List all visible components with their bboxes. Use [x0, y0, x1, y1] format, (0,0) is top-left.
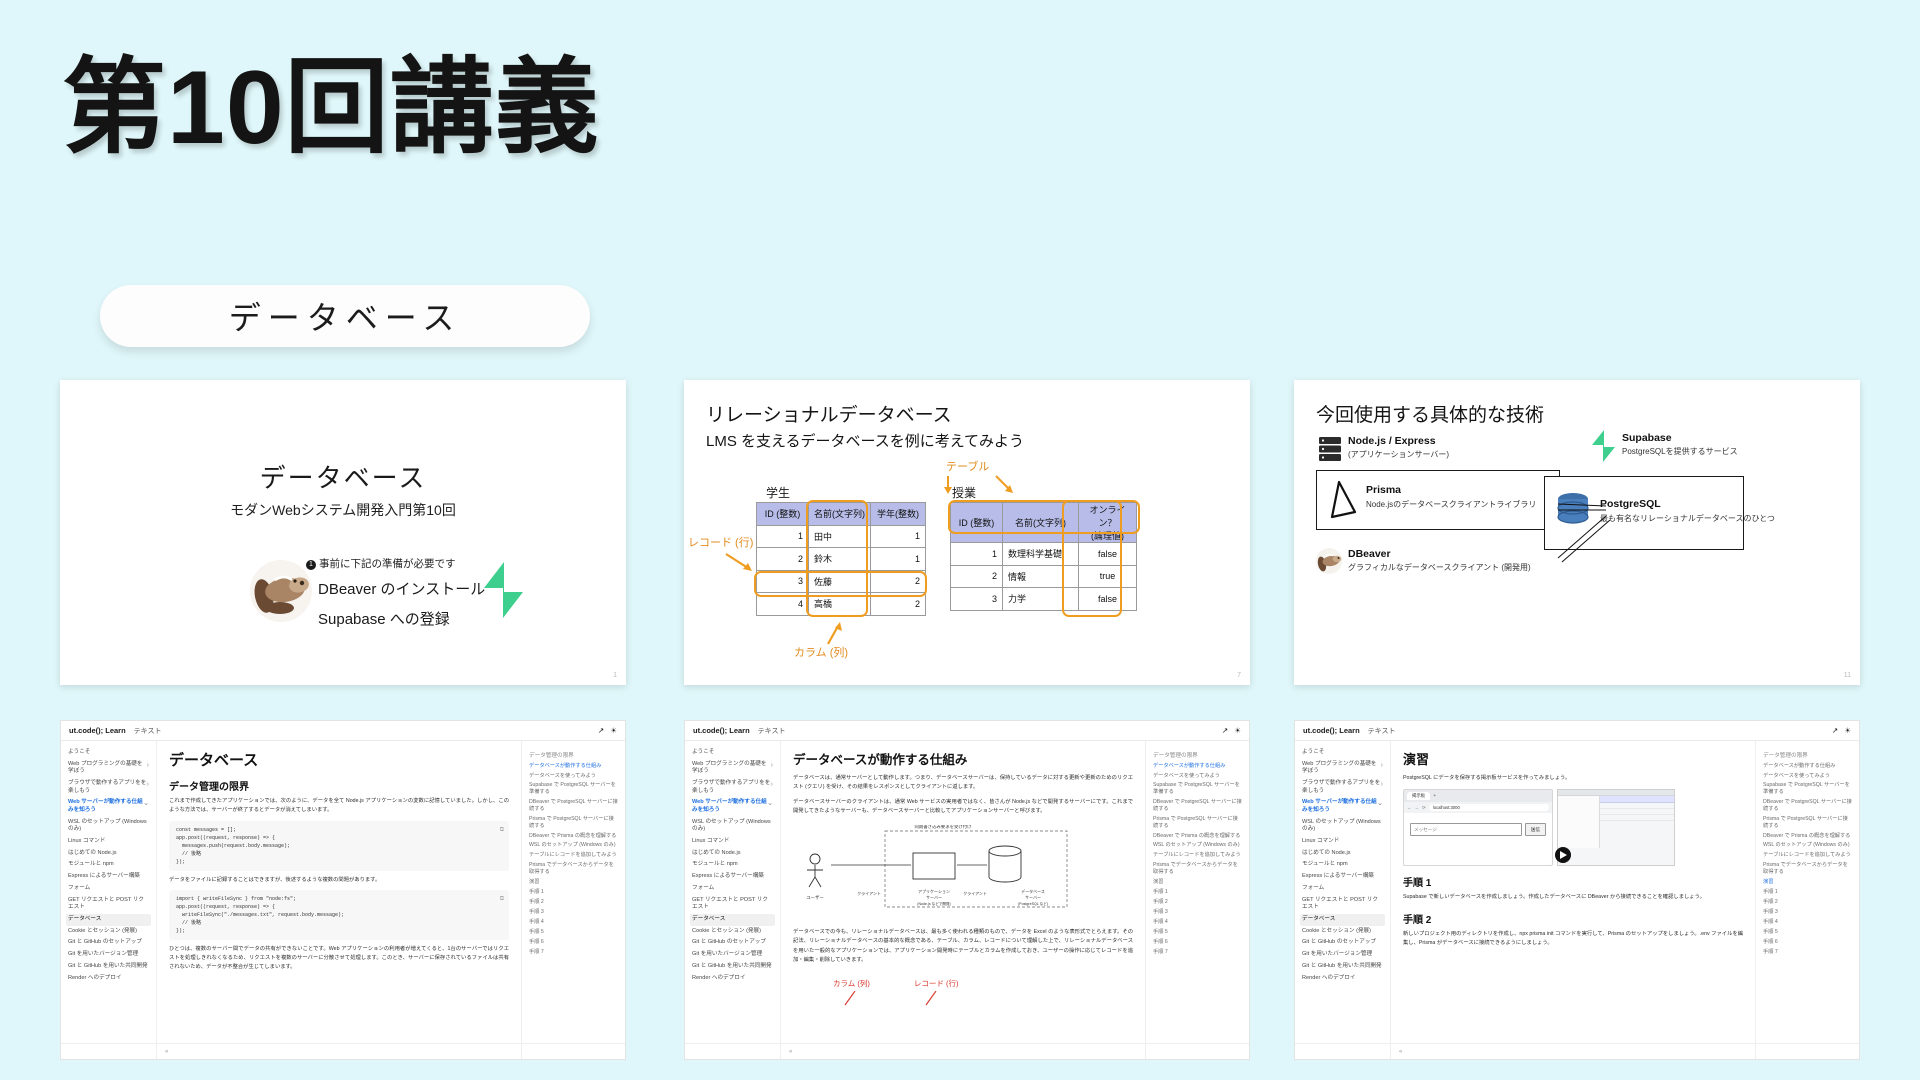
toc-item[interactable]: データベースを使ってみよう	[527, 771, 620, 781]
toc-item[interactable]: 手順 4	[1761, 917, 1854, 927]
toc-item[interactable]: 手順 5	[1761, 927, 1854, 937]
doc-paragraph: データベースでの今も、リレーショナルデータベースは、最も多く使われる種類のもので…	[793, 928, 1133, 965]
toc-item[interactable]: 演習	[527, 877, 620, 887]
toc-item[interactable]: 演習	[1761, 877, 1854, 887]
doc-sidebar[interactable]: ようこそ Web プログラミングの基礎を学ぼう› ブラウザで動作するアプリをを楽…	[1295, 741, 1391, 1060]
collapse-icon[interactable]: «	[1399, 1049, 1402, 1055]
chevron-right-icon: ›	[771, 761, 773, 776]
grid-header	[1600, 796, 1674, 803]
doc-sidebar[interactable]: ようこそ Web プログラミングの基礎を学ぼう› ブラウザで動作するアプリをを楽…	[685, 741, 781, 1060]
toc-item[interactable]: DBeaver で PostgreSQL サーバーに接続する	[1151, 798, 1244, 815]
toc-item[interactable]: 手順 5	[1151, 927, 1244, 937]
slide2-title: リレーショナルデータベース	[706, 400, 952, 427]
sidebar-item[interactable]: ブラウザで動作するアプリをを楽しもう›	[1300, 778, 1385, 797]
step-label: 手順 2	[1403, 911, 1743, 926]
doc-paragraph: PostgreSQL にデータを保存する掲示板サービスを作ってみましょう。	[1403, 774, 1743, 783]
sidebar-item[interactable]: フォーム	[66, 883, 151, 895]
sidebar-item[interactable]: WSL のセットアップ (Windows のみ)	[690, 817, 775, 836]
doc-paragraph: データをファイルに記録することはできますが、後述するような複数の問題があります。	[169, 876, 509, 885]
beaver-icon	[1316, 548, 1342, 574]
code-block: ⧉ const messages = []; app.post((request…	[169, 821, 509, 871]
site-logo[interactable]: ut.code(); Learn	[69, 726, 126, 735]
toc-item[interactable]: テーブルにレコードを追加してみよう	[1761, 851, 1854, 861]
toc-item[interactable]: DBeaver で PostgreSQL サーバーに接続する	[1761, 798, 1854, 815]
sidebar-item[interactable]: Git を用いたバージョン管理	[66, 949, 151, 961]
sidebar-item[interactable]: Web プログラミングの基礎を学ぼう›	[66, 759, 151, 778]
toc-item[interactable]: Prisma でデータベースからデータを取得する	[1761, 861, 1854, 878]
sidebar-item[interactable]: Cookie とセッション (発展)	[690, 926, 775, 938]
slide2-page-number: 7	[1237, 672, 1241, 679]
sidebar-item-active[interactable]: Web サーバーが動作する仕組みを知ろう⌄	[1300, 797, 1385, 816]
slide1-item-1: Supabase への登録	[318, 608, 450, 629]
nav-text-link[interactable]: テキスト	[758, 726, 786, 736]
sidebar-item[interactable]: Linux コマンド	[66, 836, 151, 848]
dbeaver-grid	[1600, 796, 1674, 848]
github-icon[interactable]: ↗	[1222, 726, 1228, 735]
cell: 1	[951, 543, 1003, 566]
toc-heading: データ管理の限界	[527, 747, 620, 761]
sidebar-item-selected[interactable]: データベース	[690, 914, 775, 926]
annotation-arrow	[841, 991, 867, 1007]
column-highlight	[806, 500, 868, 617]
sidebar-item[interactable]: モジュールと npm	[690, 859, 775, 871]
svg-text:データベース: データベース	[1021, 888, 1045, 894]
toc-item[interactable]: DBeaver で Prisma の概念を理解する	[1151, 831, 1244, 841]
toc-item[interactable]: 手順 3	[527, 907, 620, 917]
sidebar-item[interactable]: ようこそ	[66, 747, 151, 759]
annotation-column: カラム (列)	[794, 644, 848, 660]
cell: 1	[757, 525, 809, 548]
doc-body: ようこそ Web プログラミングの基礎を学ぼう› ブラウザで動作するアプリをを楽…	[61, 741, 625, 1060]
sidebar-item[interactable]: ブラウザで動作するアプリをを楽しもう›	[66, 778, 151, 797]
sidebar-item[interactable]: Git と GitHub を用いた共同開発	[1300, 961, 1385, 973]
browser-tab[interactable]: 掲示板	[1407, 792, 1430, 800]
svg-text:サーバー: サーバー	[1025, 895, 1041, 900]
svg-text:クライアント: クライアント	[857, 890, 881, 896]
doc-right-toc[interactable]: データ管理の限界 データベースが動作する仕組み データベースを使ってみよう Su…	[1145, 741, 1249, 1060]
sidebar-item[interactable]: Git と GitHub を用いた共同開発	[66, 961, 151, 973]
doc-topbar: ut.code(); Learn テキスト ↗ ☀	[61, 721, 625, 741]
column-annotation-arrow	[810, 620, 844, 646]
theme-toggle-icon[interactable]: ☀	[610, 726, 617, 735]
sidebar-item[interactable]: GET リクエストと POST リクエスト	[1300, 895, 1385, 914]
sidebar-item[interactable]: フォーム	[1300, 883, 1385, 895]
sidebar-item[interactable]: Git を用いたバージョン管理	[690, 949, 775, 961]
toc-item[interactable]: 手順 6	[1761, 937, 1854, 947]
grid-row	[1600, 815, 1674, 821]
toc-heading: データ管理の限界	[1761, 747, 1854, 761]
browser-urlbar[interactable]: ← → ⟳ localhost:3000	[1404, 802, 1552, 813]
sidebar-item-active[interactable]: Web サーバーが動作する仕組みを知ろう⌄	[66, 797, 151, 816]
sidebar-item[interactable]: GET リクエストと POST リクエスト	[690, 895, 775, 914]
doc-heading-2: データ管理の限界	[169, 778, 509, 793]
copy-icon[interactable]: ⧉	[500, 894, 504, 904]
forward-icon[interactable]: →	[1415, 805, 1420, 810]
cell: 1	[871, 525, 926, 548]
cell: 1	[871, 548, 926, 571]
slide1-subtitle: モダンWebシステム開発入門第10回	[60, 500, 626, 520]
cell: 3	[951, 588, 1003, 611]
message-input[interactable]: メッセージ	[1410, 823, 1522, 836]
toc-item[interactable]: 手順 1	[1761, 887, 1854, 897]
sidebar-item[interactable]: Render へのデプロイ	[1300, 972, 1385, 984]
chevron-down-icon: ⌄	[767, 799, 773, 814]
presentation-overview-page: 第10回講義 データベース データベース モダンWebシステム開発入門第10回 …	[0, 0, 1920, 1080]
toc-item[interactable]: 手順 2	[1151, 897, 1244, 907]
sidebar-item[interactable]: Linux コマンド	[1300, 836, 1385, 848]
sidebar-item[interactable]: WSL のセットアップ (Windows のみ)	[1300, 817, 1385, 836]
step-label: 手順 1	[1403, 874, 1743, 889]
chevron-right-icon: ›	[1381, 761, 1383, 776]
sidebar-item[interactable]: Git と GitHub のセットアップ	[1300, 937, 1385, 949]
sidebar-item[interactable]: GET リクエストと POST リクエスト	[66, 895, 151, 914]
slide-card-2[interactable]: リレーショナルデータベース LMS を支えるデータベースを例に考えてみよう テー…	[684, 380, 1250, 685]
doc-paragraph: これまで作成してきたアプリケーションでは、次のように、データを全て Node.j…	[169, 797, 509, 816]
code-text: const messages = []; app.post((request, …	[176, 827, 290, 865]
url-text[interactable]: localhost:3000	[1429, 804, 1549, 811]
toc-item[interactable]: 手順 1	[527, 887, 620, 897]
sidebar-item[interactable]: ようこそ	[1300, 747, 1385, 759]
slide3-title: 今回使用する具体的な技術	[1316, 400, 1544, 427]
sidebar-item-selected[interactable]: データベース	[1300, 914, 1385, 926]
doc-paragraph: データベースは、通常サーバーとして動作します。つまり、データベースサーバーは、保…	[793, 774, 1133, 793]
toc-item[interactable]: Supabase で PostgreSQL サーバーを準備する	[527, 781, 620, 798]
toc-item[interactable]: Prisma で PostgreSQL サーバーに接続する	[527, 814, 620, 831]
toc-item[interactable]: WSL のセットアップ (Windows のみ)	[1761, 841, 1854, 851]
page-title: 第10回講義	[62, 50, 600, 166]
browser-mock: 掲示板 + ← → ⟳ localhost:3000 メッセージ	[1403, 789, 1553, 866]
toc-item[interactable]: Prisma でデータベースからデータを取得する	[527, 861, 620, 878]
sidebar-item[interactable]: Cookie とセッション (発展)	[66, 926, 151, 938]
sidebar-item[interactable]: Git と GitHub のセットアップ	[690, 937, 775, 949]
toc-item[interactable]: DBeaver で Prisma の概念を理解する	[1761, 831, 1854, 841]
architecture-diagram: 同期書き込み要求を受け付け ユーザー クライアント アプリケーション サーバー …	[793, 825, 1083, 917]
toc-item[interactable]: WSL のセットアップ (Windows のみ)	[1151, 841, 1244, 851]
prisma-desc: Node.jsのデータベースクライアントライブラリ	[1366, 499, 1536, 510]
slide-card-1[interactable]: データベース モダンWebシステム開発入門第10回 1事前に下記の準備が必要です…	[60, 380, 626, 685]
chevron-right-icon: ›	[147, 780, 149, 795]
toc-item[interactable]: テーブルにレコードを追加してみよう	[527, 851, 620, 861]
toc-item[interactable]: Prisma で PostgreSQL サーバーに接続する	[1761, 814, 1854, 831]
doc-heading-1: データベースが動作する仕組み	[793, 749, 1133, 768]
reload-icon[interactable]: ⟳	[1422, 805, 1426, 811]
nav-text-link[interactable]: テキスト	[134, 726, 162, 736]
chevron-down-icon: ⌄	[1377, 799, 1383, 814]
doc-footer: «	[1295, 1043, 1859, 1059]
toc-item[interactable]: データベースが動作する仕組み	[1761, 761, 1854, 771]
student-col-id: ID (整数)	[757, 503, 809, 526]
svg-text:同期書き込み要求を受け付け: 同期書き込み要求を受け付け	[914, 825, 972, 830]
record-annotation-arrow	[724, 552, 758, 576]
sidebar-item[interactable]: モジュールと npm	[1300, 859, 1385, 871]
class-table-caption: 授業	[952, 484, 976, 501]
slide1-item-0: DBeaver のインストール	[318, 578, 485, 599]
doc-footer: «	[61, 1043, 625, 1059]
site-logo[interactable]: ut.code(); Learn	[1303, 726, 1360, 735]
browser-tabbar: 掲示板 +	[1404, 790, 1552, 802]
connector-lines	[1556, 480, 1612, 572]
sidebar-item[interactable]: はじめての Node.js	[690, 848, 775, 860]
sidebar-item[interactable]: Cookie とセッション (発展)	[1300, 926, 1385, 938]
sidebar-item[interactable]: Git と GitHub のセットアップ	[66, 937, 151, 949]
toc-item[interactable]: Supabase で PostgreSQL サーバーを準備する	[1151, 781, 1244, 798]
dbeaver-mock	[1557, 789, 1675, 866]
student-col-year: 学年(整数)	[871, 503, 926, 526]
sidebar-item[interactable]: ようこそ	[690, 747, 775, 759]
step-text: 新しいプロジェクト用のディレクトリを作成し、npx prisma init コマ…	[1403, 930, 1743, 949]
sidebar-item[interactable]: WSL のセットアップ (Windows のみ)	[66, 817, 151, 836]
node-desc: (アプリケーションサーバー)	[1348, 449, 1449, 460]
doc-paragraph: データベースサーバーのクライアントは、通常 Web サービスの実用者ではなく、皆…	[793, 798, 1133, 817]
slide-card-3[interactable]: 今回使用する具体的な技術 Node.js / Express (アプリケーション…	[1294, 380, 1860, 685]
postgres-desc: 最も有名なリレーショナルデータベースのひとつ	[1600, 513, 1775, 524]
toc-item[interactable]: 手順 3	[1151, 907, 1244, 917]
topbar-actions: ↗ ☀	[1832, 726, 1851, 735]
sidebar-item[interactable]: Git を用いたバージョン管理	[1300, 949, 1385, 961]
toc-item[interactable]: 手順 7	[527, 947, 620, 957]
code-text: import { writeFileSync } from "node:fs";…	[176, 896, 344, 934]
svg-text:アプリケーション: アプリケーション	[918, 888, 950, 894]
toc-item[interactable]: 手順 1	[1151, 887, 1244, 897]
theme-toggle-icon[interactable]: ☀	[1234, 726, 1241, 735]
collapse-icon[interactable]: «	[165, 1049, 168, 1055]
toc-item[interactable]: データベースが動作する仕組み	[1151, 761, 1244, 771]
step-text: Supabase で新しいデータベースを作成しましょう。作成したデータベースに …	[1403, 893, 1743, 902]
toc-item[interactable]: テーブルにレコードを追加してみよう	[1151, 851, 1244, 861]
toc-item[interactable]: 演習	[1151, 877, 1244, 887]
toc-item[interactable]: Prisma で PostgreSQL サーバーに接続する	[1151, 814, 1244, 831]
toc-item[interactable]: Supabase で PostgreSQL サーバーを準備する	[1761, 781, 1854, 798]
sidebar-item-selected[interactable]: データベース	[66, 914, 151, 926]
supabase-label: Supabase	[1622, 432, 1672, 444]
toc-item[interactable]: データベースを使ってみよう	[1761, 771, 1854, 781]
svg-text:(PostgreSQL など): (PostgreSQL など)	[1018, 901, 1048, 906]
sidebar-item[interactable]: Render へのデプロイ	[66, 972, 151, 984]
toc-item[interactable]: 手順 2	[1761, 897, 1854, 907]
cell: 2	[951, 565, 1003, 588]
back-icon[interactable]: ←	[1407, 805, 1412, 810]
toc-item[interactable]: 手順 7	[1761, 947, 1854, 957]
doc-topbar: ut.code(); Learn テキスト ↗ ☀	[685, 721, 1249, 741]
sidebar-item[interactable]: Express によるサーバー構築	[1300, 871, 1385, 883]
doc-content: データベース データ管理の限界 これまで作成してきたアプリケーションでは、次のよ…	[157, 741, 521, 1060]
toc-item[interactable]: 手順 2	[527, 897, 620, 907]
slide1-page-number: 1	[613, 672, 617, 679]
sidebar-item[interactable]: Express によるサーバー構築	[66, 871, 151, 883]
doc-footer: «	[685, 1043, 1249, 1059]
toc-item[interactable]: 手順 4	[1151, 917, 1244, 927]
doc-heading-1: 演習	[1403, 749, 1743, 768]
student-table-caption: 学生	[766, 484, 790, 501]
topic-pill-label: データベース	[229, 293, 461, 339]
doc2-annotation-column: カラム (列)	[833, 973, 870, 1007]
note-number-badge: 1	[306, 560, 316, 570]
sidebar-item[interactable]: Git と GitHub を用いた共同開発	[690, 961, 775, 973]
annotation-table: テーブル	[946, 458, 989, 474]
sidebar-item[interactable]: フォーム	[690, 883, 775, 895]
slide3-page-number: 11	[1844, 672, 1851, 679]
github-icon[interactable]: ↗	[598, 726, 604, 735]
doc-content: データベースが動作する仕組み データベースは、通常サーバーとして動作します。つま…	[781, 741, 1145, 1060]
toc-heading: データ管理の限界	[1151, 747, 1244, 761]
svg-text:(Node.js などで開発): (Node.js などで開発)	[917, 901, 950, 906]
sidebar-item-active[interactable]: Web サーバーが動作する仕組みを知ろう⌄	[690, 797, 775, 816]
sidebar-item[interactable]: Express によるサーバー構築	[690, 871, 775, 883]
submit-button[interactable]: 送信	[1525, 823, 1546, 836]
sidebar-item[interactable]: ブラウザで動作するアプリをを楽しもう›	[690, 778, 775, 797]
site-logo[interactable]: ut.code(); Learn	[693, 726, 750, 735]
chevron-right-icon: ›	[147, 761, 149, 776]
nav-text-link[interactable]: テキスト	[1368, 726, 1396, 736]
new-tab-icon[interactable]: +	[1433, 793, 1436, 799]
slide1-note-text: 事前に下記の準備が必要です	[319, 558, 456, 570]
doc2-annotation-record: レコード (行)	[914, 973, 959, 1007]
doc-sidebar[interactable]: ようこそ Web プログラミングの基礎を学ぼう› ブラウザで動作するアプリをを楽…	[61, 741, 157, 1060]
toc-item[interactable]: DBeaver で Prisma の概念を理解する	[527, 831, 620, 841]
sidebar-item[interactable]: Render へのデプロイ	[690, 972, 775, 984]
browser-viewport: メッセージ 送信	[1404, 813, 1552, 865]
toc-item[interactable]: WSL のセットアップ (Windows のみ)	[527, 841, 620, 851]
doc-right-toc[interactable]: データ管理の限界 データベースが動作する仕組み データベースを使ってみよう Su…	[1755, 741, 1859, 1060]
toc-item[interactable]: DBeaver で PostgreSQL サーバーに接続する	[527, 798, 620, 815]
toc-item[interactable]: 手順 5	[527, 927, 620, 937]
beaver-icon	[250, 560, 312, 622]
dbeaver-tree[interactable]	[1558, 796, 1600, 848]
slide1-note: 1事前に下記の準備が必要です	[306, 556, 456, 571]
annotation-record: レコード (行)	[688, 534, 753, 550]
topbar-actions: ↗ ☀	[598, 726, 617, 735]
chevron-right-icon: ›	[771, 780, 773, 795]
toc-item[interactable]: 手順 3	[1761, 907, 1854, 917]
github-icon[interactable]: ↗	[1832, 726, 1838, 735]
svg-text:クライアント: クライアント	[963, 890, 987, 896]
chevron-down-icon: ⌄	[143, 799, 149, 814]
doc-screenshot-3[interactable]: ut.code(); Learn テキスト ↗ ☀ ようこそ Web プログラミ…	[1294, 720, 1860, 1060]
svg-text:サーバー: サーバー	[926, 895, 942, 900]
sidebar-item[interactable]: はじめての Node.js	[1300, 848, 1385, 860]
doc-screenshot-1[interactable]: ut.code(); Learn テキスト ↗ ☀ ようこそ Web プログラミ…	[60, 720, 626, 1060]
doc-paragraph: ひとつは、複数のサーバー間でデータの共有ができないことです。Web アプリケーシ…	[169, 945, 509, 973]
doc-body: ようこそ Web プログラミングの基礎を学ぼう› ブラウザで動作するアプリをを楽…	[1295, 741, 1859, 1060]
sidebar-item[interactable]: はじめての Node.js	[66, 848, 151, 860]
doc-body: ようこそ Web プログラミングの基礎を学ぼう› ブラウザで動作するアプリをを楽…	[685, 741, 1249, 1060]
server-icon	[1318, 436, 1342, 462]
toc-item[interactable]: 手順 4	[527, 917, 620, 927]
toc-item[interactable]: データベースを使ってみよう	[1151, 771, 1244, 781]
dbeaver-desc: グラフィカルなデータベースクライアント (開発用)	[1348, 562, 1531, 573]
chevron-right-icon: ›	[1381, 780, 1383, 795]
dbeaver-label: DBeaver	[1348, 548, 1391, 560]
prisma-label: Prisma	[1366, 484, 1401, 496]
code-block: ⧉ import { writeFileSync } from "node:fs…	[169, 890, 509, 940]
copy-icon[interactable]: ⧉	[500, 825, 504, 835]
doc-screenshot-2[interactable]: ut.code(); Learn テキスト ↗ ☀ ようこそ Web プログラミ…	[684, 720, 1250, 1060]
supabase-logo	[1590, 430, 1616, 462]
doc-content: 演習 PostgreSQL にデータを保存する掲示板サービスを作ってみましょう。…	[1391, 741, 1755, 1060]
toc-item[interactable]: 手順 7	[1151, 947, 1244, 957]
class-online-column-highlight	[1062, 500, 1122, 617]
node-label: Node.js / Express	[1348, 435, 1436, 447]
topic-pill: データベース	[100, 285, 590, 347]
toc-item[interactable]: 手順 6	[527, 937, 620, 947]
prisma-logo	[1328, 480, 1358, 520]
sidebar-item[interactable]: Linux コマンド	[690, 836, 775, 848]
toc-item[interactable]: 手順 6	[1151, 937, 1244, 947]
toc-item[interactable]: Prisma でデータベースからデータを取得する	[1151, 861, 1244, 878]
doc-heading-1: データベース	[169, 749, 509, 770]
sidebar-item[interactable]: Web プログラミングの基礎を学ぼう›	[690, 759, 775, 778]
doc-right-toc[interactable]: データ管理の限界 データベースが動作する仕組み データベースを使ってみよう Su…	[521, 741, 625, 1060]
theme-toggle-icon[interactable]: ☀	[1844, 726, 1851, 735]
toc-item[interactable]: データベースが動作する仕組み	[527, 761, 620, 771]
slide2-subtitle: LMS を支えるデータベースを例に考えてみよう	[706, 430, 1024, 451]
annotation-arrow	[922, 991, 948, 1007]
svg-text:ユーザー: ユーザー	[806, 895, 823, 901]
cell: 2	[757, 548, 809, 571]
supabase-logo	[480, 562, 526, 618]
sidebar-item[interactable]: モジュールと npm	[66, 859, 151, 871]
collapse-icon[interactable]: «	[789, 1049, 792, 1055]
doc-topbar: ut.code(); Learn テキスト ↗ ☀	[1295, 721, 1859, 741]
sidebar-item[interactable]: Web プログラミングの基礎を学ぼう›	[1300, 759, 1385, 778]
slide1-title: データベース	[60, 458, 626, 495]
supabase-desc: PostgreSQLを提供するサービス	[1622, 446, 1738, 457]
topbar-actions: ↗ ☀	[1222, 726, 1241, 735]
